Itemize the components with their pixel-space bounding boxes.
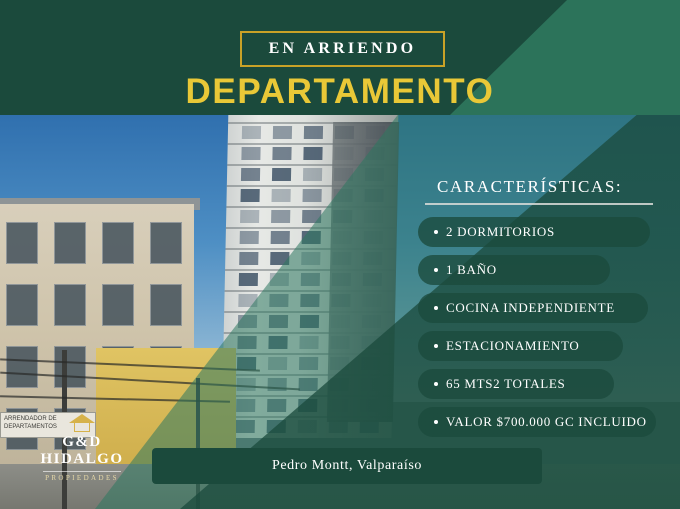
feature-label: ESTACIONAMIENTO	[446, 338, 579, 354]
feature-label: COCINA INDEPENDIENTE	[446, 300, 615, 316]
feature-label: 1 BAÑO	[446, 262, 497, 278]
property-listing-poster: ARRENDADOR DE DEPARTAMENTOS EN ARRIENDO …	[0, 0, 680, 509]
feature-item-6: VALOR $700.000 GC INCLUIDO	[418, 407, 656, 437]
features-divider	[425, 203, 653, 205]
feature-item-5: 65 MTS2 TOTALES	[418, 369, 614, 399]
logo-line-1: G&D	[28, 434, 136, 451]
status-badge: EN ARRIENDO	[240, 31, 445, 67]
logo-line-3: PROPIEDADES	[28, 474, 136, 482]
features-heading: CARACTERÍSTICAS:	[437, 177, 622, 197]
bullet-icon	[434, 420, 438, 424]
feature-label: VALOR $700.000 GC INCLUIDO	[446, 414, 647, 430]
address-bar: Pedro Montt, Valparaíso	[152, 448, 542, 484]
bullet-icon	[434, 382, 438, 386]
status-badge-label: EN ARRIENDO	[269, 40, 417, 58]
page-title: DEPARTAMENTO	[0, 72, 680, 112]
house-icon	[69, 414, 95, 432]
bullet-icon	[434, 230, 438, 234]
bullet-icon	[434, 306, 438, 310]
logo-divider	[43, 471, 121, 472]
feature-item-3: COCINA INDEPENDIENTE	[418, 293, 648, 323]
logo-line-2: HIDALGO	[28, 451, 136, 468]
feature-label: 2 DORMITORIOS	[446, 224, 555, 240]
feature-item-4: ESTACIONAMIENTO	[418, 331, 623, 361]
bullet-icon	[434, 268, 438, 272]
company-logo: G&D HIDALGO PROPIEDADES	[28, 414, 136, 494]
feature-item-2: 1 BAÑO	[418, 255, 610, 285]
address-label: Pedro Montt, Valparaíso	[272, 458, 422, 474]
feature-item-1: 2 DORMITORIOS	[418, 217, 650, 247]
feature-label: 65 MTS2 TOTALES	[446, 376, 566, 392]
bullet-icon	[434, 344, 438, 348]
